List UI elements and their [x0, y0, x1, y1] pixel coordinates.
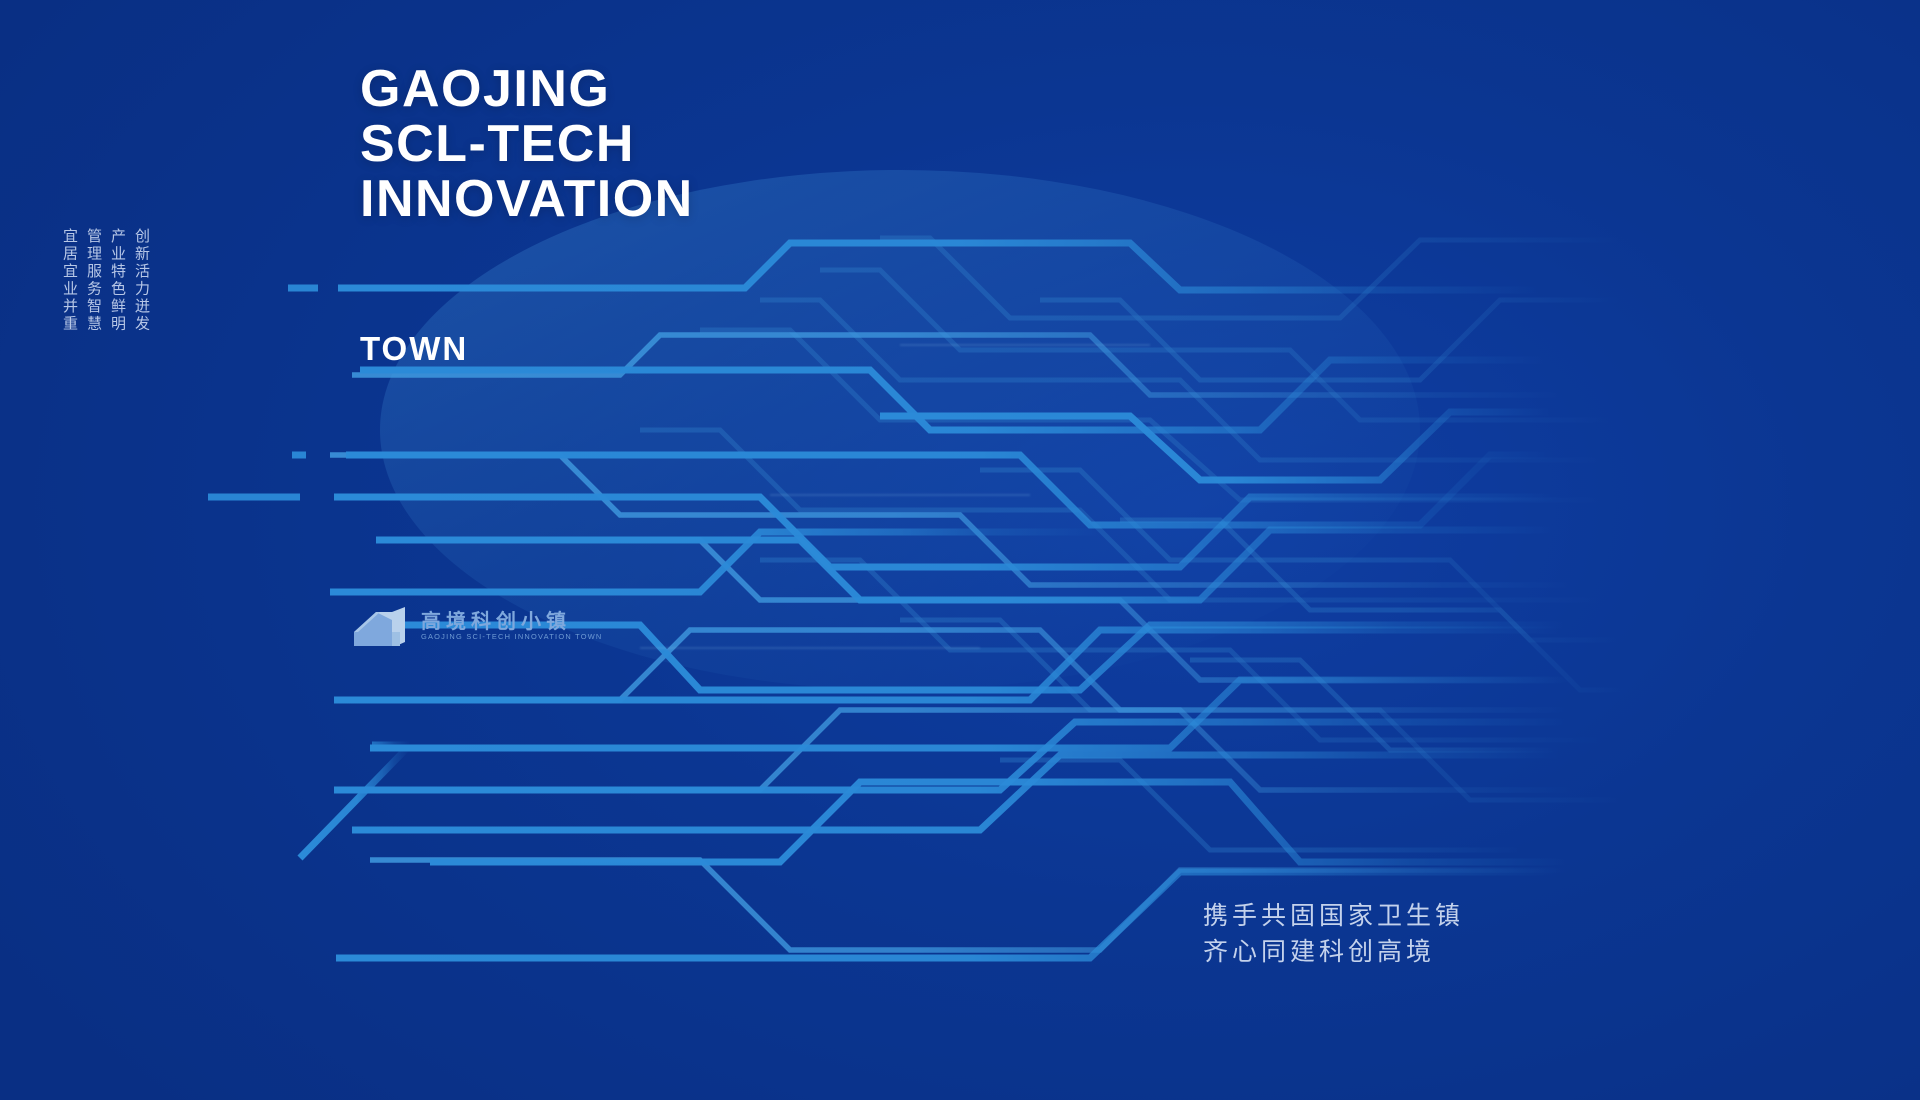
- logo-lockup: 高境科创小镇 GAOJING SCI-TECH INNOVATION TOWN: [352, 602, 603, 650]
- vertical-slogan-column-1: 创新活力迸发: [134, 228, 149, 408]
- vertical-slogan-column-4: 宜居宜业并重: [62, 228, 77, 408]
- bottom-slogan: 携手共固国家卫生镇 齐心同建科创高境: [1203, 898, 1464, 969]
- page-title-sub: TOWN: [360, 330, 468, 368]
- logo-name-en: GAOJING SCI-TECH INNOVATION TOWN: [421, 633, 603, 640]
- circuit-network-graphic: [0, 0, 1920, 1100]
- poster-canvas: GAOJING SCL-TECH INNOVATION TOWN 创新活力迸发 …: [0, 0, 1920, 1100]
- vertical-slogan-column-3: 管理服务智慧: [86, 228, 101, 408]
- logo-name-cn: 高境科创小镇: [421, 611, 603, 631]
- vertical-slogan-column-2: 产业特色鲜明: [110, 228, 125, 408]
- page-title: GAOJING SCL-TECH INNOVATION: [360, 62, 694, 227]
- house-roof-icon: [352, 602, 410, 650]
- logo-text-block: 高境科创小镇 GAOJING SCI-TECH INNOVATION TOWN: [421, 611, 603, 640]
- vertical-slogan-strap: 创新活力迸发 产业特色鲜明 管理服务智慧 宜居宜业并重: [62, 228, 149, 408]
